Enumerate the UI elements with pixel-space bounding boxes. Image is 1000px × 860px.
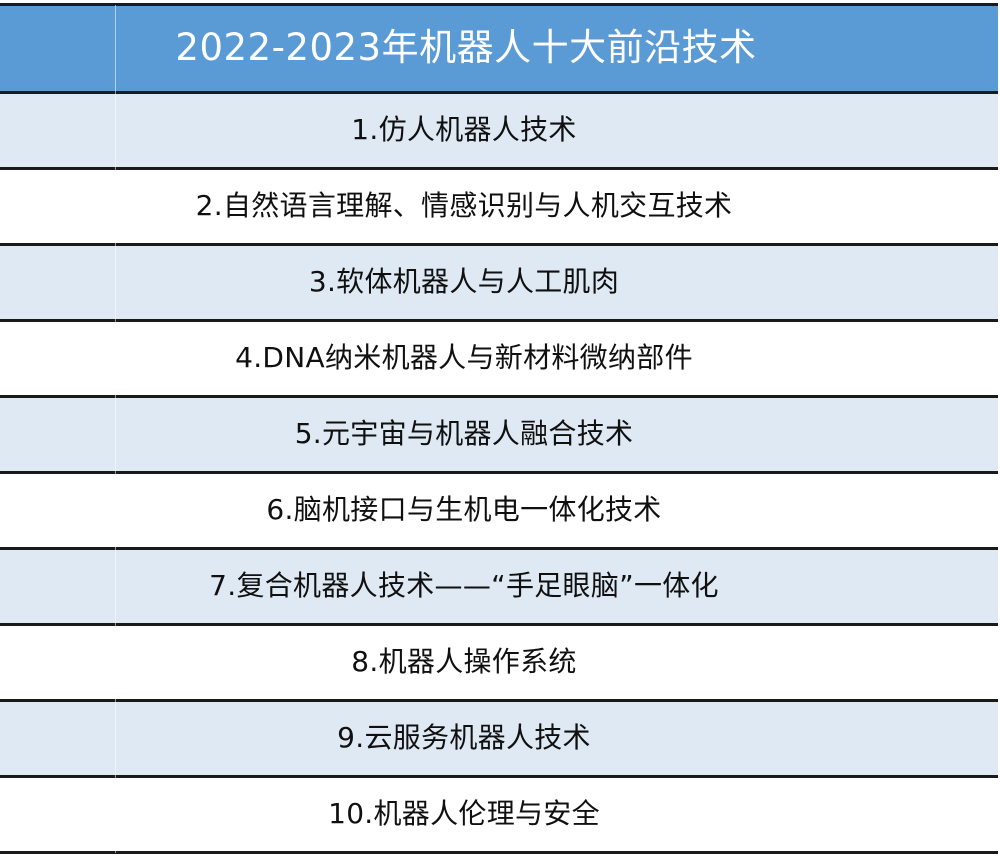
table-cell[interactable]: 3.软体机器人与人工肌肉 — [0, 245, 998, 321]
list-item-label: 4.DNA纳米机器人与新材料微纳部件 — [0, 342, 998, 374]
table-row[interactable]: 4.DNA纳米机器人与新材料微纳部件 — [0, 321, 998, 397]
table-cell[interactable]: 2.自然语言理解、情感识别与人机交互技术 — [0, 169, 998, 245]
table-row[interactable]: 1.仿人机器人技术 — [0, 93, 998, 169]
table-cell[interactable]: 9.云服务机器人技术 — [0, 701, 998, 777]
table-row[interactable]: 6.脑机接口与生机电一体化技术 — [0, 473, 998, 549]
list-item-label: 1.仿人机器人技术 — [0, 114, 998, 146]
page-title: 2022-2023年机器人十大前沿技术 — [0, 28, 998, 69]
list-item-label: 2.自然语言理解、情感识别与人机交互技术 — [0, 190, 998, 222]
list-item-label: 9.云服务机器人技术 — [0, 722, 998, 754]
list-item-label: 7.复合机器人技术——“手足眼脑”一体化 — [0, 570, 998, 602]
table-title-cell: 2022-2023年机器人十大前沿技术 — [0, 5, 998, 93]
list-item-label: 3.软体机器人与人工肌肉 — [0, 266, 998, 298]
table-cell[interactable]: 4.DNA纳米机器人与新材料微纳部件 — [0, 321, 998, 397]
table-body: 2022-2023年机器人十大前沿技术 1.仿人机器人技术 2.自然语言理解、情… — [0, 5, 998, 853]
table-cell[interactable]: 8.机器人操作系统 — [0, 625, 998, 701]
table-row[interactable]: 3.软体机器人与人工肌肉 — [0, 245, 998, 321]
table-row[interactable]: 5.元宇宙与机器人融合技术 — [0, 397, 998, 473]
page-root: 2022-2023年机器人十大前沿技术 1.仿人机器人技术 2.自然语言理解、情… — [0, 0, 1000, 860]
list-item-label: 5.元宇宙与机器人融合技术 — [0, 418, 998, 450]
table-row[interactable]: 8.机器人操作系统 — [0, 625, 998, 701]
table-row[interactable]: 2.自然语言理解、情感识别与人机交互技术 — [0, 169, 998, 245]
list-item-label: 8.机器人操作系统 — [0, 646, 998, 678]
top-technologies-table: 2022-2023年机器人十大前沿技术 1.仿人机器人技术 2.自然语言理解、情… — [0, 3, 998, 854]
table-cell[interactable]: 6.脑机接口与生机电一体化技术 — [0, 473, 998, 549]
table-row[interactable]: 10.机器人伦理与安全 — [0, 777, 998, 853]
table-cell[interactable]: 5.元宇宙与机器人融合技术 — [0, 397, 998, 473]
table-row[interactable]: 7.复合机器人技术——“手足眼脑”一体化 — [0, 549, 998, 625]
table-cell[interactable]: 7.复合机器人技术——“手足眼脑”一体化 — [0, 549, 998, 625]
list-item-label: 6.脑机接口与生机电一体化技术 — [0, 494, 998, 526]
table-row[interactable]: 9.云服务机器人技术 — [0, 701, 998, 777]
table-header-row: 2022-2023年机器人十大前沿技术 — [0, 5, 998, 93]
list-item-label: 10.机器人伦理与安全 — [0, 798, 998, 830]
table-cell[interactable]: 10.机器人伦理与安全 — [0, 777, 998, 853]
table-cell[interactable]: 1.仿人机器人技术 — [0, 93, 998, 169]
